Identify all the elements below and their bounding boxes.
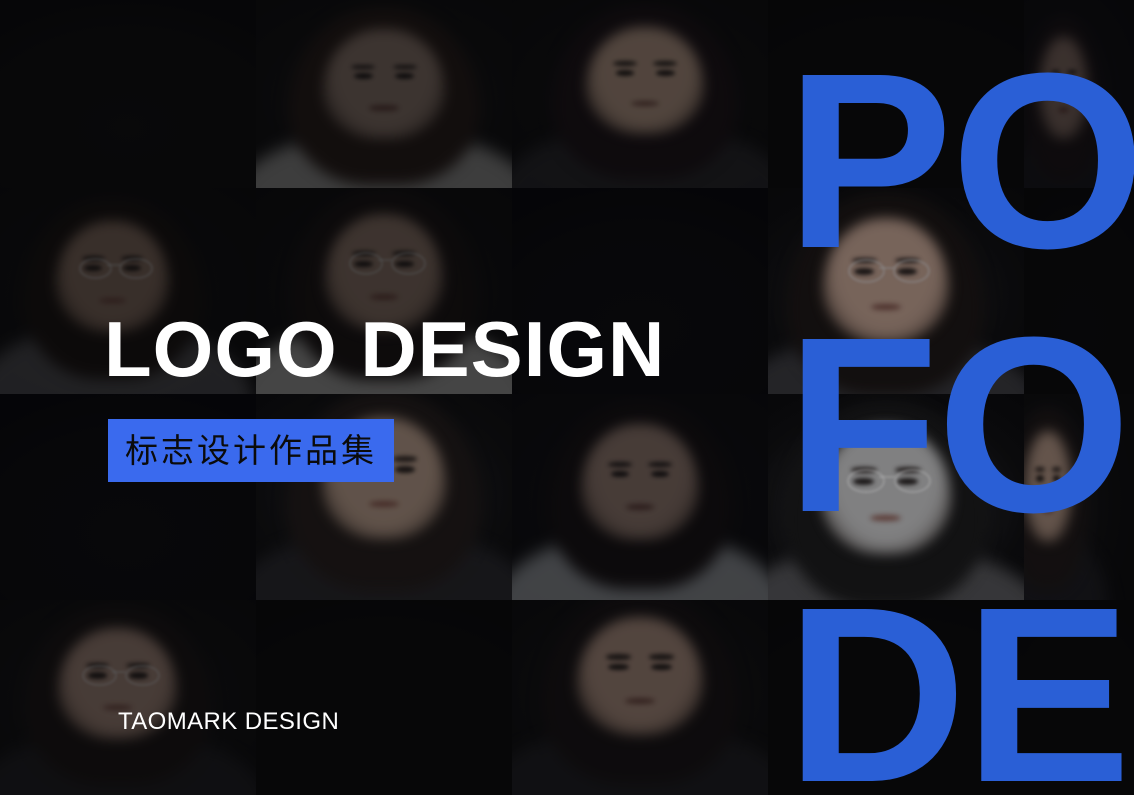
- subtitle-badge: 标志设计作品集: [108, 419, 394, 482]
- page-title: LOGO DESIGN: [104, 310, 665, 388]
- poster-canvas: POFODE LOGO DESIGN 标志设计作品集 TAOMARK DESIG…: [0, 0, 1134, 795]
- poster-copy-layer: LOGO DESIGN 标志设计作品集 TAOMARK DESIGN: [0, 0, 1134, 795]
- brand-wordmark: TAOMARK DESIGN: [118, 708, 339, 736]
- subtitle-badge-label: 标志设计作品集: [125, 434, 377, 467]
